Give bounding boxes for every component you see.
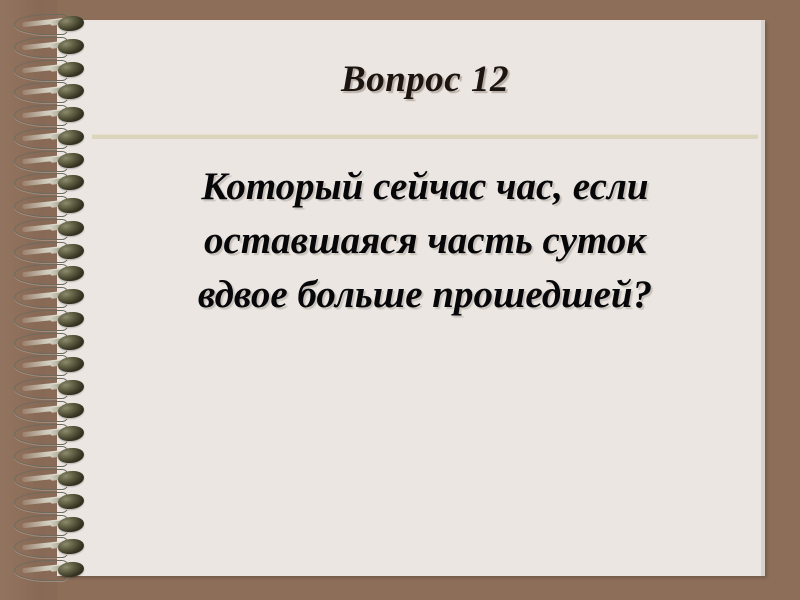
page-title: Вопрос 12 bbox=[92, 58, 758, 101]
page-right-edge bbox=[761, 20, 765, 576]
question-line: оставшаяся часть суток bbox=[92, 214, 758, 268]
question-line: вдвое больше прошедшей? bbox=[92, 268, 758, 322]
question-text: Который сейчас час, если оставшаяся част… bbox=[92, 160, 758, 322]
title-divider-rule bbox=[92, 134, 758, 139]
question-line: Который сейчас час, если bbox=[92, 160, 758, 214]
notepad-slide: Вопрос 12 Который сейчас час, если остав… bbox=[0, 0, 800, 600]
